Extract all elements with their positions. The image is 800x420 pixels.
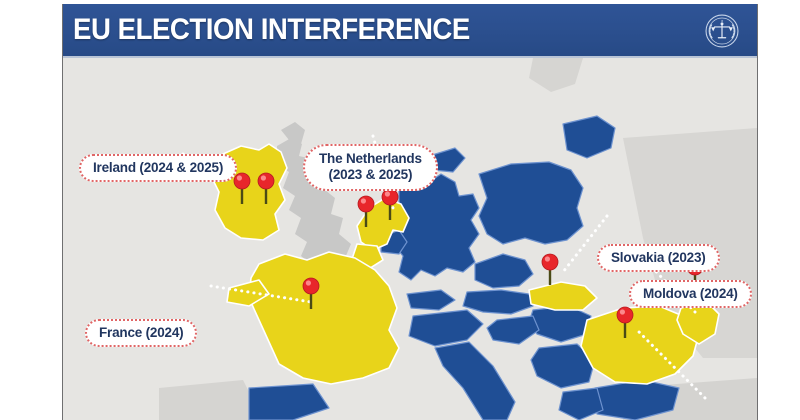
callout-france-label: France (2024) [99,325,183,340]
map-svg [63,58,757,420]
infographic-screenshot: EU ELECTION INTERFERENCE ★ [0,0,800,420]
page-title: EU ELECTION INTERFERENCE [73,13,470,47]
country-poland [479,162,583,244]
callout-netherlands[interactable]: The Netherlands (2023 & 2025) [303,144,438,191]
header-bar: EU ELECTION INTERFERENCE ★ [63,4,757,58]
callout-slovakia-label: Slovakia (2023) [611,250,706,265]
callout-moldova-label: Moldova (2024) [643,286,738,301]
callout-ireland[interactable]: Ireland (2024 & 2025) [79,154,237,182]
callout-netherlands-line2: (2023 & 2025) [319,167,422,183]
callout-slovakia[interactable]: Slovakia (2023) [597,244,720,272]
infographic-card: EU ELECTION INTERFERENCE ★ [62,4,758,420]
callout-moldova[interactable]: Moldova (2024) [629,280,752,308]
scales-of-justice-seal-icon: ★ [701,10,743,52]
callout-netherlands-line1: The Netherlands [319,151,422,167]
europe-map: Ireland (2024 & 2025) The Netherlands (2… [63,58,757,420]
callout-ireland-label: Ireland (2024 & 2025) [93,160,223,175]
svg-text:★: ★ [721,19,724,23]
callout-france[interactable]: France (2024) [85,319,197,347]
